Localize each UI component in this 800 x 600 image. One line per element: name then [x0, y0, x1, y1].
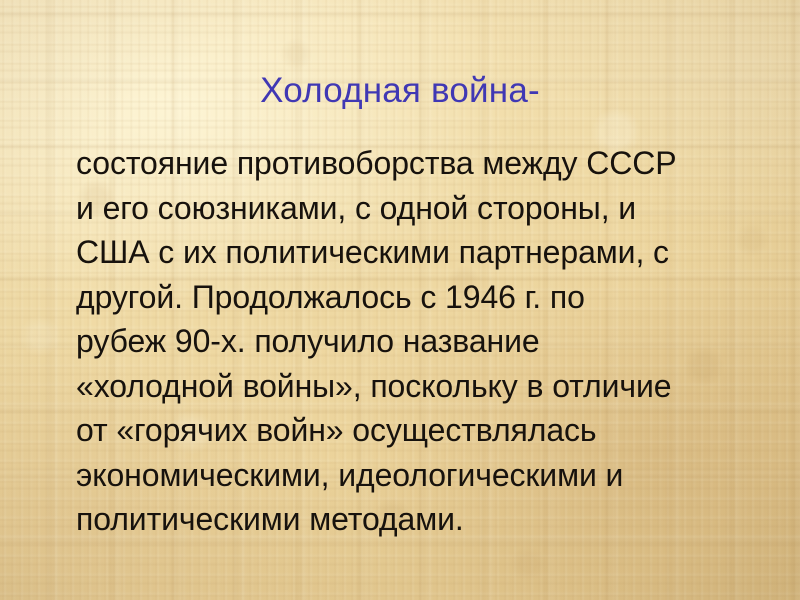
body-line: США с их политическими партнерами, с	[76, 230, 776, 275]
body-line: от «горячих войн» осуществлялась	[76, 408, 776, 453]
body-line: политическими методами.	[76, 497, 776, 542]
body-line: «холодной войны», поскольку в отличие	[76, 364, 776, 409]
body-line: экономическими, идеологическими и	[76, 453, 776, 498]
body-line: состояние противоборства между СССР	[76, 141, 776, 186]
body-line: рубеж 90-х. получило название	[76, 319, 776, 364]
slide-content: Холодная война- состояние противоборства…	[0, 0, 800, 600]
slide-body-text: состояние противоборства между СССР и ег…	[76, 141, 776, 542]
body-line: другой. Продолжалось с 1946 г. по	[76, 275, 776, 320]
body-line: и его союзниками, с одной стороны, и	[76, 186, 776, 231]
slide-title: Холодная война-	[0, 71, 800, 110]
presentation-slide: Холодная война- состояние противоборства…	[0, 0, 800, 600]
